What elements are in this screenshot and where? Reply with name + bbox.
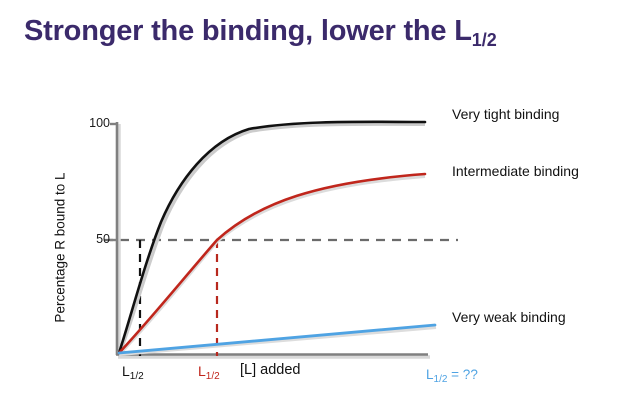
x-tick-red-base: L [198,363,206,379]
tight-binding-curve [119,122,425,353]
y-tick-label-50: 50 [78,232,110,246]
x-tick-red-sub: 1/2 [206,371,220,382]
x-tick-black-base: L [122,363,130,379]
intermediate-binding-curve [119,174,425,353]
slide-canvas: Stronger the binding, lower the L1/2 [0,0,644,414]
page-title-text: Stronger the binding, lower the L [24,15,472,47]
weak-binding-curve [119,325,435,353]
y-axis-title: Percentage R bound to L [53,148,68,348]
x-tick-black-sub: 1/2 [130,371,144,382]
x-axis-title: [L] added [240,362,300,378]
page-title-subscript: 1/2 [472,30,497,50]
blue-note-tail: = ?? [447,367,477,382]
x-tick-label-black-half: L1/2 [122,363,144,379]
y-tick-label-100: 100 [78,116,110,130]
intermediate-curve-shadow [119,176,425,354]
binding-curve-figure: 100 50 Percentage R bound to L Very tigh… [0,60,644,414]
x-tick-label-red-half: L1/2 [198,363,220,379]
blue-note-sub: 1/2 [434,374,448,385]
series-label-intermediate-binding: Intermediate binding [452,163,579,179]
series-label-very-tight-binding: Very tight binding [452,106,559,122]
series-label-very-weak-binding: Very weak binding [452,309,566,325]
page-title: Stronger the binding, lower the L1/2 [24,12,624,53]
weak-binding-half-annotation: L1/2 = ?? [426,367,478,382]
blue-note-base: L [426,367,434,382]
